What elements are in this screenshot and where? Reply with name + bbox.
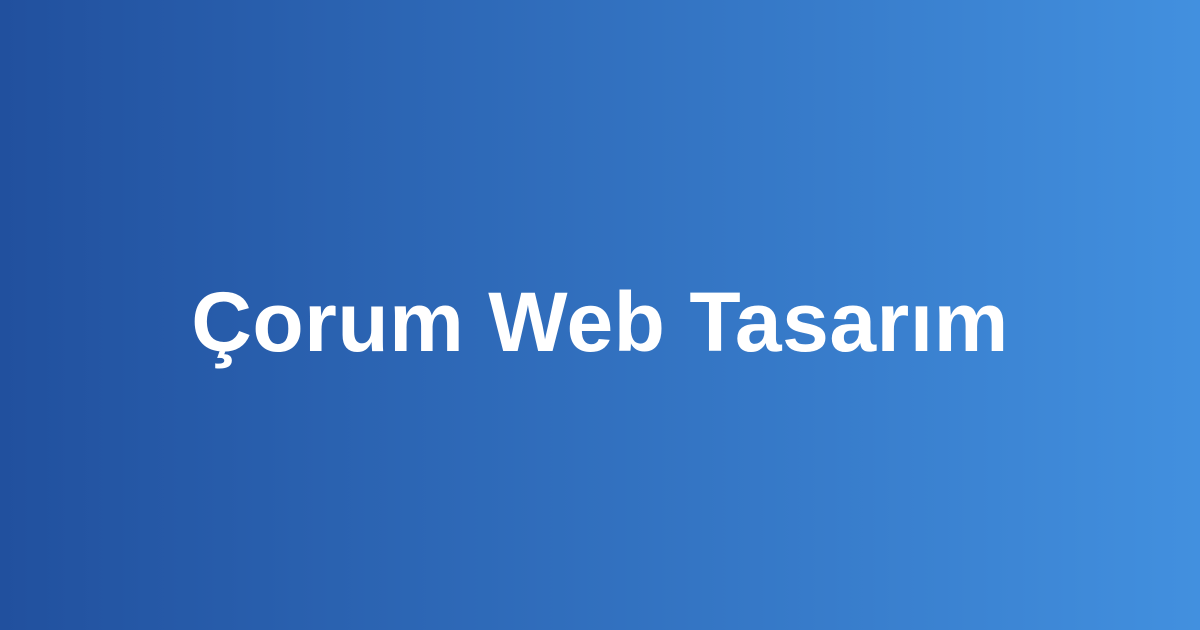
page-title: Çorum Web Tasarım <box>40 276 1160 368</box>
headline-container: Çorum Web Tasarım <box>0 276 1200 368</box>
banner-canvas: Çorum Web Tasarım <box>0 0 1200 630</box>
